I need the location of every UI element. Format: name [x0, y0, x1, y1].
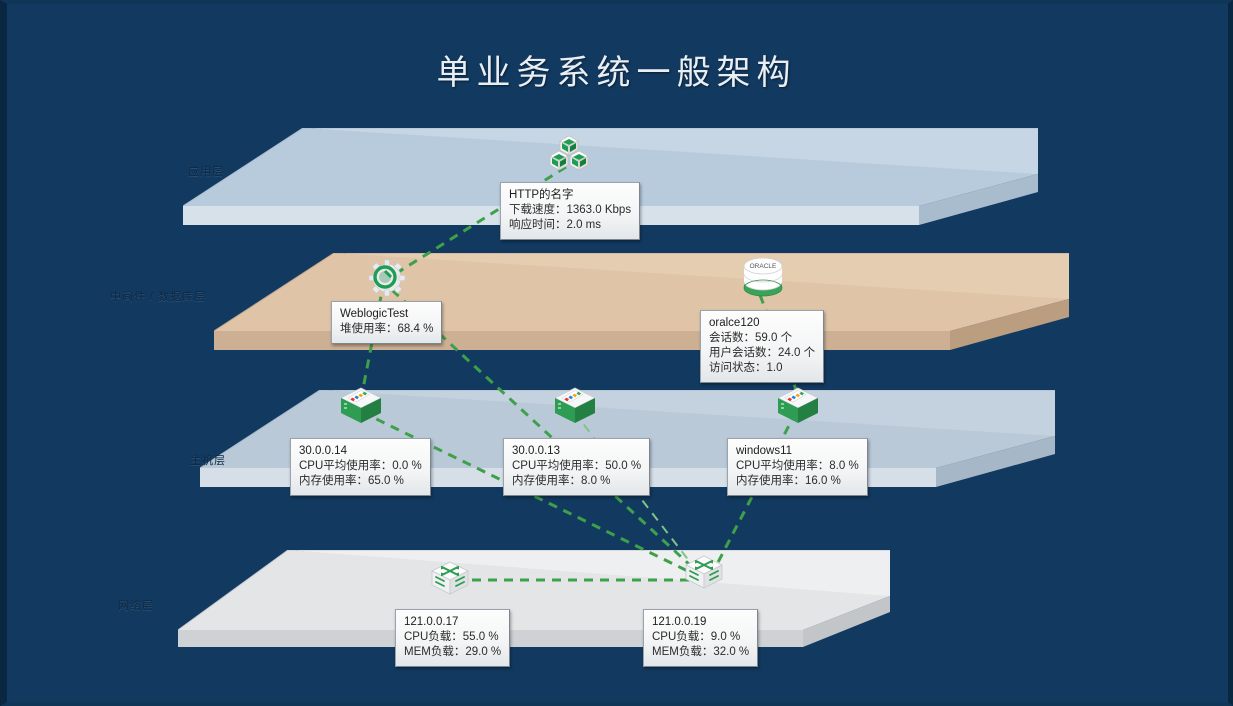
tooltip-title: 30.0.0.14 — [299, 444, 422, 459]
tooltip-line: 内存使用率：65.0 % — [299, 474, 422, 489]
oracle-icon-label: ORACLE — [750, 263, 777, 270]
tooltip-host-windows11[interactable]: windows11 CPU平均使用率：8.0 % 内存使用率：16.0 % — [727, 438, 868, 496]
tooltip-line: CPU负载：9.0 % — [652, 630, 749, 645]
gear-ring-icon[interactable] — [367, 258, 407, 298]
tooltip-line: 会话数：59.0 个 — [709, 331, 815, 346]
tooltip-title: windows11 — [736, 444, 859, 459]
tooltip-title: oralce120 — [709, 316, 815, 331]
network-switch-icon-121-0-0-17[interactable] — [428, 560, 472, 600]
layer-label-network: 网络层 — [118, 597, 154, 613]
tooltip-net-121-0-0-19[interactable]: 121.0.0.19 CPU负载：9.0 % MEM负载：32.0 % — [643, 609, 758, 667]
layer-plane-network[interactable] — [178, 550, 898, 670]
server-host-icon-30-0-0-13[interactable] — [552, 386, 598, 428]
layer-label-host: 主机层 — [190, 452, 226, 468]
tooltip-title: 30.0.0.13 — [512, 444, 641, 459]
tooltip-title: 121.0.0.17 — [404, 615, 501, 630]
network-switch-icon-121-0-0-19[interactable] — [682, 554, 726, 594]
tooltip-line: 内存使用率：16.0 % — [736, 474, 859, 489]
tooltip-line: MEM负载：29.0 % — [404, 645, 501, 660]
tooltip-line: 下载速度：1363.0 Kbps — [509, 203, 631, 218]
tooltip-line: CPU负载：55.0 % — [404, 630, 501, 645]
tooltip-oracle-node[interactable]: oralce120 会话数：59.0 个 用户会话数：24.0 个 访问状态：1… — [700, 310, 824, 383]
tooltip-host-30-0-0-13[interactable]: 30.0.0.13 CPU平均使用率：50.0 % 内存使用率：8.0 % — [503, 438, 650, 496]
tooltip-line: 用户会话数：24.0 个 — [709, 346, 815, 361]
tooltip-line: MEM负载：32.0 % — [652, 645, 749, 660]
layer-label-middleware: 中间件 / 数据库层 — [110, 288, 206, 304]
tooltip-title: HTTP的名字 — [509, 188, 631, 203]
tooltip-line: 访问状态：1.0 — [709, 361, 815, 376]
tooltip-line: CPU平均使用率：50.0 % — [512, 459, 641, 474]
tooltip-title: 121.0.0.19 — [652, 615, 749, 630]
page-title: 单业务系统一般架构 — [0, 45, 1233, 94]
tooltip-net-121-0-0-17[interactable]: 121.0.0.17 CPU负载：55.0 % MEM负载：29.0 % — [395, 609, 510, 667]
server-host-icon-windows11[interactable] — [775, 386, 821, 428]
tooltip-line: CPU平均使用率：0.0 % — [299, 459, 422, 474]
server-host-icon-30-0-0-14[interactable] — [338, 386, 384, 428]
tooltip-weblogic-node[interactable]: WeblogicTest 堆使用率：68.4 % — [331, 301, 442, 344]
tooltip-http-node[interactable]: HTTP的名字 下载速度：1363.0 Kbps 响应时间：2.0 ms — [500, 182, 640, 240]
tooltip-line: 响应时间：2.0 ms — [509, 218, 631, 233]
layer-label-app: 应用层 — [188, 163, 224, 179]
architecture-diagram-canvas: 单业务系统一般架构 应用层 中间件 / 数据库层 — [0, 0, 1233, 706]
tooltip-line: CPU平均使用率：8.0 % — [736, 459, 859, 474]
tooltip-line: 内存使用率：8.0 % — [512, 474, 641, 489]
oracle-database-icon[interactable]: ORACLE — [740, 258, 786, 306]
three-cubes-icon[interactable] — [548, 134, 590, 176]
tooltip-line: 堆使用率：68.4 % — [340, 322, 433, 337]
tooltip-title: WeblogicTest — [340, 307, 433, 322]
tooltip-host-30-0-0-14[interactable]: 30.0.0.14 CPU平均使用率：0.0 % 内存使用率：65.0 % — [290, 438, 431, 496]
